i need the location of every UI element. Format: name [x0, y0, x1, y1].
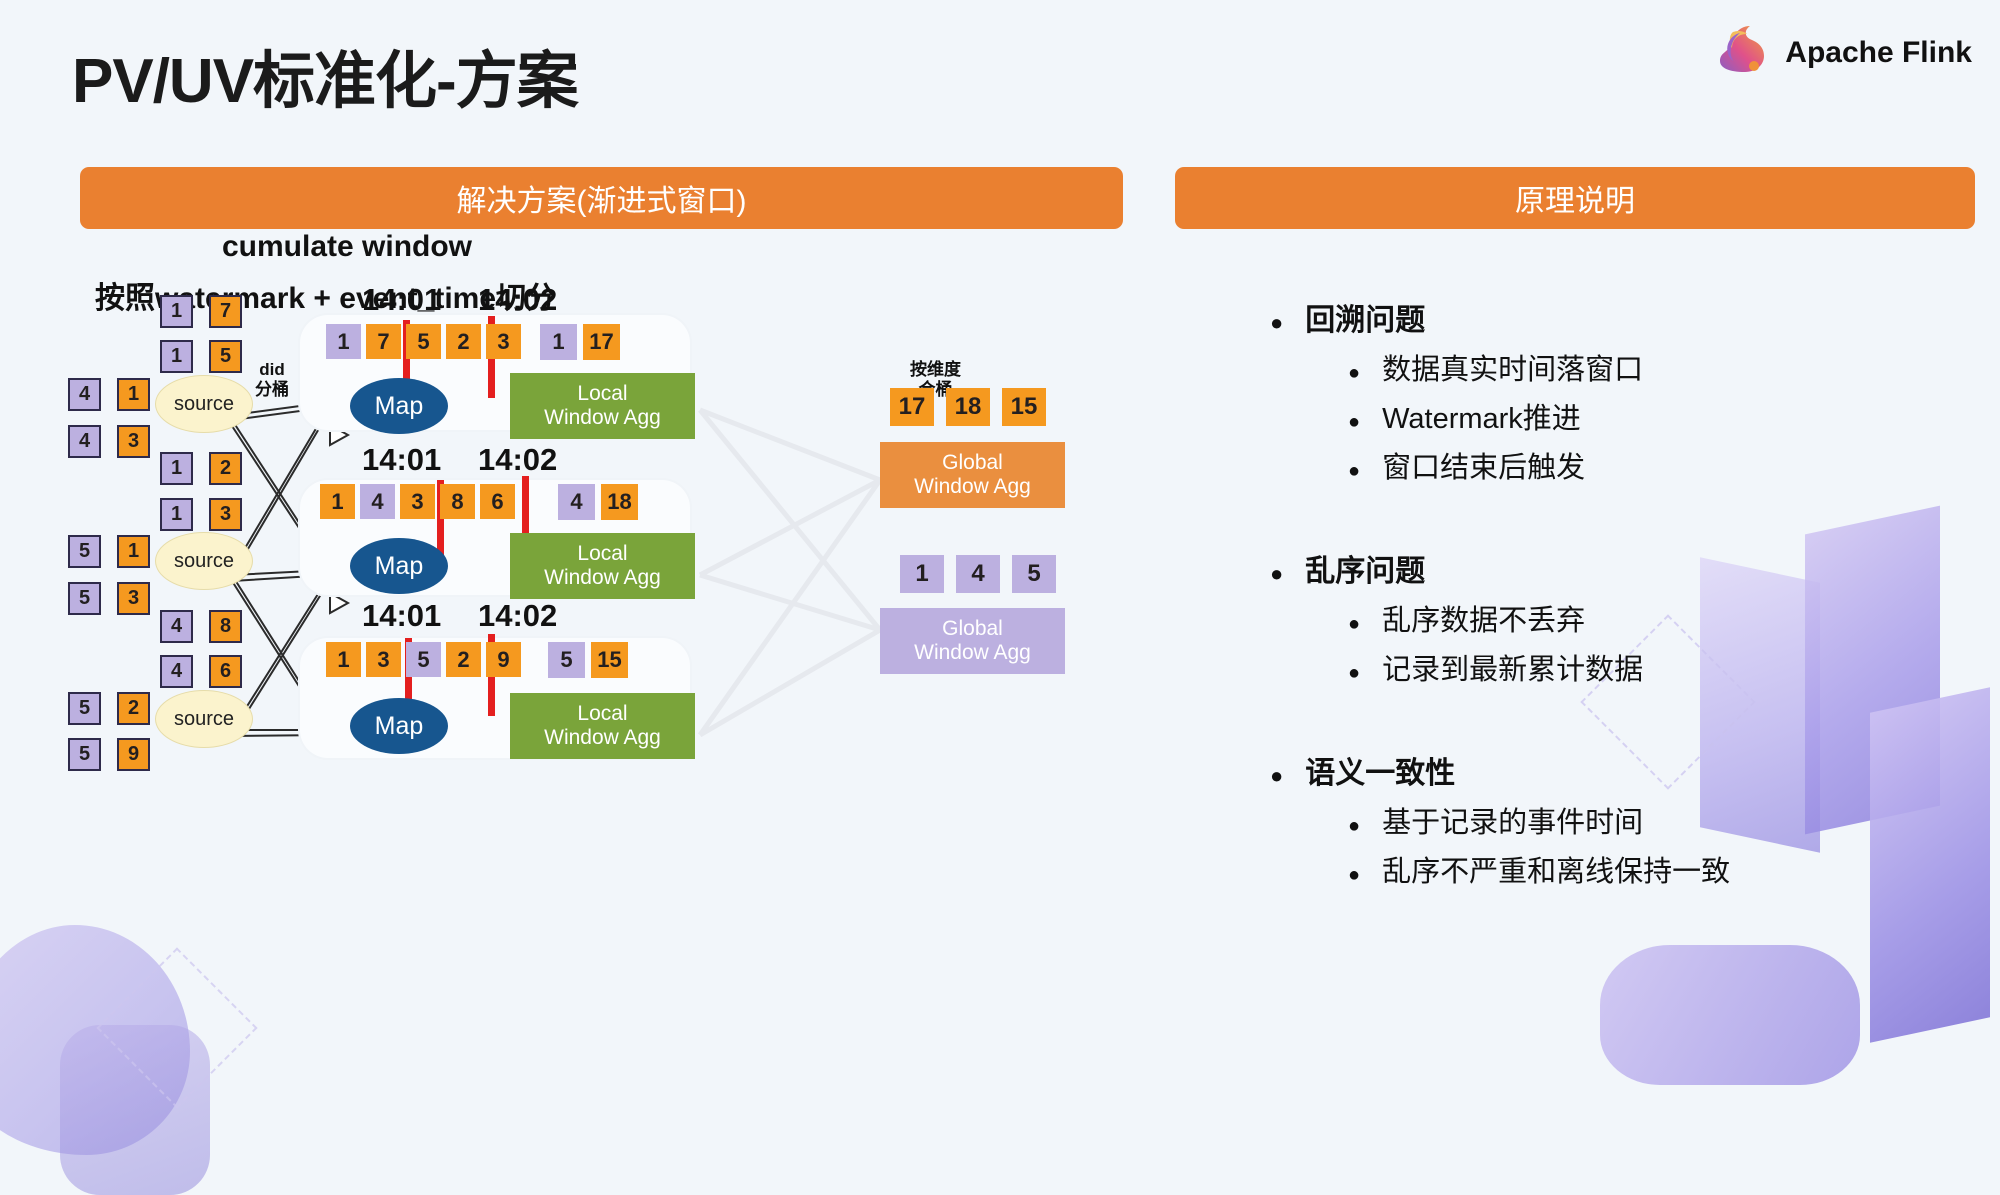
- principle-sub-item: ● 窗口结束后触发: [1348, 444, 1970, 486]
- global-agg-line1: Global: [942, 451, 1003, 475]
- lane-result: 1 17: [540, 324, 620, 360]
- local-agg-line1: Local: [577, 382, 627, 406]
- principle-sub-item: ● 记录到最新累计数据: [1348, 646, 1970, 688]
- seq-cell: 3: [486, 324, 521, 359]
- source-record: 5 3: [68, 582, 150, 615]
- principle-heading: 回溯问题: [1305, 295, 1425, 339]
- note-did-line2: 分桶: [255, 380, 289, 400]
- source-node[interactable]: source: [155, 375, 253, 433]
- time-mark-label: 14:01: [362, 442, 441, 478]
- principle-sub-item: ● 基于记录的事件时间: [1348, 799, 1970, 841]
- record-key: 1: [160, 295, 193, 328]
- principle-sub-label: Watermark推进: [1382, 395, 1581, 437]
- record-value: 1: [117, 535, 150, 568]
- principle-sub-label: 窗口结束后触发: [1382, 444, 1585, 486]
- source-node-label: source: [174, 708, 234, 731]
- principle-sub-label: 数据真实时间落窗口: [1382, 346, 1643, 388]
- spacer: [1270, 696, 1970, 748]
- principle-sub-label: 基于记录的事件时间: [1382, 799, 1643, 841]
- source-record: 1 7: [160, 295, 242, 328]
- seq-cell: 5: [406, 324, 441, 359]
- principle-sub-item: ● 乱序不严重和离线保持一致: [1348, 848, 1970, 890]
- brand-name: Apache Flink: [1785, 36, 1972, 70]
- decor-block-left: [60, 1025, 210, 1195]
- source-record: 1 5: [160, 340, 242, 373]
- seq-cell: 8: [440, 484, 475, 519]
- global-value: 1: [900, 555, 944, 593]
- global-value: 17: [890, 388, 934, 426]
- flink-squirrel-icon: [1715, 22, 1771, 83]
- principle-heading-row: ● 乱序问题: [1270, 546, 1970, 590]
- section-bar-solution-label: 解决方案(渐进式窗口): [457, 176, 747, 220]
- principle-group: ● 回溯问题 ● 数据真实时间落窗口 ● Watermark推进 ● 窗口结束后…: [1270, 295, 1970, 486]
- global-value: 15: [1002, 388, 1046, 426]
- spacer: [1270, 494, 1970, 546]
- bullet-icon: ●: [1270, 563, 1283, 585]
- bullet-icon: ●: [1348, 461, 1360, 481]
- local-agg-line1: Local: [577, 702, 627, 726]
- global-window-agg-operator[interactable]: Global Window Agg: [880, 442, 1065, 508]
- record-key: 4: [68, 378, 101, 411]
- principle-sub-item: ● 数据真实时间落窗口: [1348, 346, 1970, 388]
- lane-sequence: 1 3 5 2 9: [326, 642, 521, 677]
- time-mark-label: 14:01: [362, 282, 441, 318]
- source-record: 1 3: [160, 498, 242, 531]
- note-did-line1: did: [255, 360, 289, 380]
- global-value: 4: [956, 555, 1000, 593]
- bullet-icon: ●: [1270, 765, 1283, 787]
- seq-cell: 1: [326, 642, 361, 677]
- source-node-label: source: [174, 393, 234, 416]
- local-agg-line2: Window Agg: [544, 566, 661, 590]
- local-window-agg-operator[interactable]: Local Window Agg: [510, 533, 695, 599]
- global-window-agg-operator[interactable]: Global Window Agg: [880, 608, 1065, 674]
- global-value: 18: [946, 388, 990, 426]
- local-window-agg-operator[interactable]: Local Window Agg: [510, 693, 695, 759]
- source-record: 4 8: [160, 610, 242, 643]
- map-operator-label: Map: [375, 552, 424, 581]
- record-key: 5: [68, 535, 101, 568]
- bullet-icon: ●: [1348, 614, 1360, 634]
- seq-cell: 2: [446, 324, 481, 359]
- principles-list: ● 回溯问题 ● 数据真实时间落窗口 ● Watermark推进 ● 窗口结束后…: [1270, 295, 1970, 898]
- page-title: PV/UV标准化-方案: [72, 30, 578, 120]
- record-value: 7: [209, 295, 242, 328]
- record-value: 3: [117, 582, 150, 615]
- lane-sequence: 1 7 5 2 3: [326, 324, 521, 359]
- record-value: 5: [209, 340, 242, 373]
- principle-group: ● 乱序问题 ● 乱序数据不丢弃 ● 记录到最新累计数据: [1270, 546, 1970, 688]
- global-value: 5: [1012, 555, 1056, 593]
- record-value: 2: [209, 452, 242, 485]
- brand-logo: Apache Flink: [1715, 22, 1972, 83]
- principle-sub-item: ● 乱序数据不丢弃: [1348, 597, 1970, 639]
- source-record: 1 2: [160, 452, 242, 485]
- record-key: 1: [160, 340, 193, 373]
- principle-sub-label: 乱序不严重和离线保持一致: [1382, 848, 1730, 890]
- lane-sequence: 1 4 3 8 6: [320, 484, 515, 519]
- seq-cell: 9: [486, 642, 521, 677]
- bullet-icon: ●: [1348, 363, 1360, 383]
- record-value: 3: [117, 425, 150, 458]
- result-key: 5: [548, 642, 585, 678]
- seq-cell: 3: [366, 642, 401, 677]
- record-key: 4: [68, 425, 101, 458]
- global-input-values: 1 4 5: [900, 555, 1056, 593]
- result-key: 1: [540, 324, 577, 360]
- lane-result: 4 18: [558, 484, 638, 520]
- section-bar-principle-label: 原理说明: [1515, 176, 1635, 220]
- principle-heading-row: ● 语义一致性: [1270, 748, 1970, 792]
- principle-heading-row: ● 回溯问题: [1270, 295, 1970, 339]
- record-value: 6: [209, 655, 242, 688]
- record-value: 3: [209, 498, 242, 531]
- record-key: 4: [160, 655, 193, 688]
- bullet-icon: ●: [1270, 312, 1283, 334]
- source-node[interactable]: source: [155, 690, 253, 748]
- map-operator-label: Map: [375, 392, 424, 421]
- local-agg-line2: Window Agg: [544, 726, 661, 750]
- seq-cell: 7: [366, 324, 401, 359]
- lane-result: 5 15: [548, 642, 628, 678]
- record-key: 1: [160, 498, 193, 531]
- decor-cloud-right: [1600, 945, 1860, 1085]
- source-record: 5 9: [68, 738, 150, 771]
- principle-group: ● 语义一致性 ● 基于记录的事件时间 ● 乱序不严重和离线保持一致: [1270, 748, 1970, 890]
- map-operator-label: Map: [375, 712, 424, 741]
- result-value: 15: [591, 642, 628, 678]
- time-mark-label: 14:01: [362, 598, 441, 634]
- map-operator[interactable]: Map: [350, 538, 448, 594]
- record-key: 5: [68, 738, 101, 771]
- section-bar-solution: 解决方案(渐进式窗口): [80, 167, 1123, 229]
- principle-sub-label: 记录到最新累计数据: [1382, 646, 1643, 688]
- global-input-values: 17 18 15: [890, 388, 1046, 426]
- record-key: 5: [68, 692, 101, 725]
- principle-heading: 乱序问题: [1305, 546, 1425, 590]
- source-record: 4 1: [68, 378, 150, 411]
- result-value: 18: [601, 484, 638, 520]
- note-did-bucketing: did 分桶: [255, 360, 289, 401]
- note-dim-line1: 按维度: [910, 360, 961, 380]
- source-record: 5 1: [68, 535, 150, 568]
- seq-cell: 1: [326, 324, 361, 359]
- record-key: 1: [160, 452, 193, 485]
- principle-heading: 语义一致性: [1305, 748, 1455, 792]
- bullet-icon: ●: [1348, 663, 1360, 683]
- record-key: 5: [68, 582, 101, 615]
- bullet-icon: ●: [1348, 412, 1360, 432]
- map-operator[interactable]: Map: [350, 698, 448, 754]
- result-value: 17: [583, 324, 620, 360]
- bullet-icon: ●: [1348, 816, 1360, 836]
- source-record: 4 3: [68, 425, 150, 458]
- global-agg-line2: Window Agg: [914, 475, 1031, 499]
- local-agg-line2: Window Agg: [544, 406, 661, 430]
- record-value: 8: [209, 610, 242, 643]
- time-mark-label: 14:02: [478, 442, 557, 478]
- principle-sub-item: ● Watermark推进: [1348, 395, 1970, 437]
- record-key: 4: [160, 610, 193, 643]
- record-value: 9: [117, 738, 150, 771]
- time-mark-label: 14:02: [478, 282, 557, 318]
- result-key: 4: [558, 484, 595, 520]
- local-agg-line1: Local: [577, 542, 627, 566]
- seq-cell: 2: [446, 642, 481, 677]
- section-bar-principle: 原理说明: [1175, 167, 1975, 229]
- source-record: 4 6: [160, 655, 242, 688]
- record-value: 2: [117, 692, 150, 725]
- source-node[interactable]: source: [155, 532, 253, 590]
- seq-cell: 4: [360, 484, 395, 519]
- seq-cell: 6: [480, 484, 515, 519]
- global-agg-line2: Window Agg: [914, 641, 1031, 665]
- global-agg-line1: Global: [942, 617, 1003, 641]
- seq-cell: 3: [400, 484, 435, 519]
- seq-cell: 5: [406, 642, 441, 677]
- record-value: 1: [117, 378, 150, 411]
- pipeline-diagram: cumulate window 按照watermark + event_time…: [0, 230, 1180, 1010]
- seq-cell: 1: [320, 484, 355, 519]
- map-operator[interactable]: Map: [350, 378, 448, 434]
- local-window-agg-operator[interactable]: Local Window Agg: [510, 373, 695, 439]
- source-node-label: source: [174, 550, 234, 573]
- source-record: 5 2: [68, 692, 150, 725]
- principle-sub-label: 乱序数据不丢弃: [1382, 597, 1585, 639]
- bullet-icon: ●: [1348, 865, 1360, 885]
- time-mark-label: 14:02: [478, 598, 557, 634]
